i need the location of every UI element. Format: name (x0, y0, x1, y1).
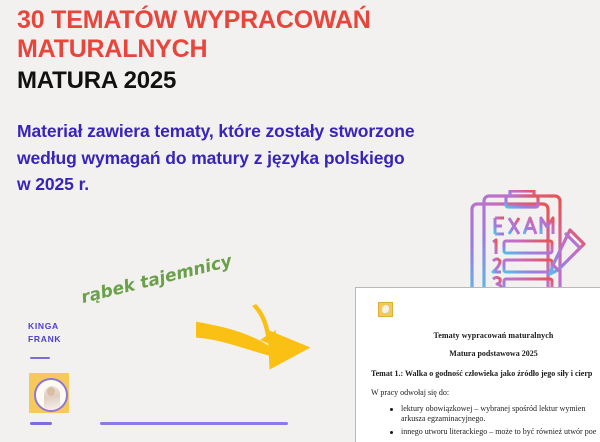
document-lead-text: W pracy odwołaj się do: (371, 388, 600, 397)
document-bullet-list: lektury obowiązkowej – wybranej spośród … (363, 404, 600, 442)
page-title-red: 30 TEMATÓW WYPRACOWAŃ MATURALNYCH (17, 6, 437, 64)
author-name: KINGA FRANK (28, 320, 61, 346)
list-item: lektury obowiązkowej – wybranej spośród … (401, 404, 600, 424)
document-page: Tematy wypracowań maturalnych Matura pod… (363, 293, 600, 442)
document-thumbnail-icon (378, 302, 393, 317)
document-preview-panel[interactable]: Tematy wypracowań maturalnych Matura pod… (355, 287, 600, 442)
bottom-divider-long (100, 422, 288, 425)
document-thumbnail-glyph (382, 305, 390, 314)
headline-block: 30 TEMATÓW WYPRACOWAŃ MATURALNYCH MATURA… (17, 6, 437, 95)
avatar-photo (44, 386, 60, 410)
page-subtitle: Materiał zawiera tematy, które zostały s… (17, 118, 417, 198)
list-item-text: lektury obowiązkowej – wybranej spośród … (401, 404, 585, 413)
bottom-divider-short (30, 422, 52, 425)
list-item-text-cont: arkusza egzaminacyjnego. (401, 414, 598, 424)
document-topic-1: Temat 1.: Walka o godność człowieka jako… (371, 369, 600, 378)
avatar-ring (34, 378, 68, 412)
avatar (29, 373, 69, 413)
page-title-black: MATURA 2025 (17, 68, 437, 95)
list-item: innego utworu literackiego – może to być… (401, 427, 600, 437)
document-title: Tematy wypracowań maturalnych (405, 331, 582, 340)
document-subtitle: Matura podstawowa 2025 (405, 349, 582, 358)
author-last-name: FRANK (28, 333, 61, 346)
author-first-name: KINGA (28, 320, 61, 333)
curved-arrow-right-icon (196, 296, 336, 376)
author-divider (30, 357, 50, 359)
